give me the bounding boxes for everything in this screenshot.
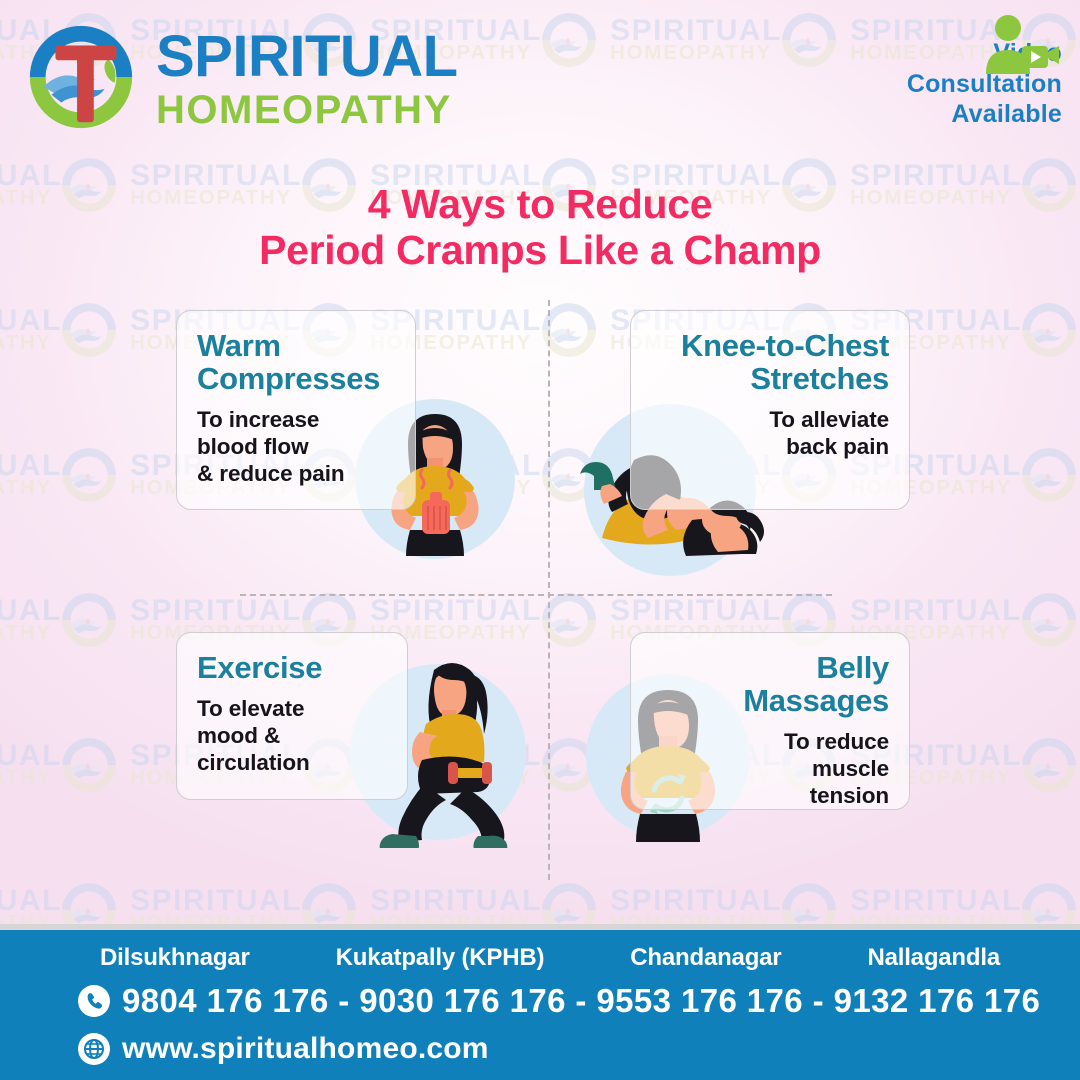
card-warm-compresses[interactable]: Warm Compresses To increase blood flow &… <box>176 310 416 510</box>
watermark-line1: SPIRITUAL <box>850 597 1022 625</box>
card-knee-to-chest-stretches[interactable]: Knee-to-Chest Stretches To alleviate bac… <box>630 310 910 510</box>
hands-leaf-circle-logo-icon <box>58 589 120 651</box>
phone-handset-icon <box>78 985 110 1017</box>
person-video-camera-icon <box>982 12 1060 76</box>
card-sub-line2: back pain <box>651 433 889 460</box>
card-title-line1: Knee-to-Chest <box>651 329 889 362</box>
watermark: SPIRITUALHOMEOPATHY <box>0 734 62 796</box>
watermark: SPIRITUALHOMEOPATHY <box>1018 444 1080 506</box>
watermark-line1: SPIRITUAL <box>0 887 62 915</box>
card-sub-line1: To increase <box>197 406 395 433</box>
footer: DilsukhnagarKukatpally (KPHB)Chandanagar… <box>0 930 1080 1080</box>
footer-phone-row[interactable]: 9804 176 176 - 9030 176 176 - 9553 176 1… <box>78 982 1040 1020</box>
watermark: SPIRITUALHOMEOPATHY <box>1018 589 1080 651</box>
card-sub-line1: To elevate <box>197 695 387 722</box>
card-subtitle: To alleviate back pain <box>651 406 889 460</box>
watermark: SPIRITUALHOMEOPATHY <box>1018 734 1080 796</box>
watermark-line1: SPIRITUAL <box>370 597 542 625</box>
card-sub-line3: & reduce pain <box>197 460 395 487</box>
card-title: Exercise <box>197 651 387 684</box>
watermark-line1: SPIRITUAL <box>0 307 62 335</box>
card-sub-line2: muscle <box>651 755 889 782</box>
watermark-line1: SPIRITUAL <box>0 742 62 770</box>
card-title-line1: Warm <box>197 329 395 362</box>
watermark-line2: HOMEOPATHY <box>0 769 62 788</box>
video-badge-line3: Available <box>832 99 1062 130</box>
card-belly-massages[interactable]: Belly Massages To reduce muscle tension <box>630 632 910 810</box>
footer-location: Dilsukhnagar <box>100 944 250 972</box>
card-subtitle: To elevate mood & circulation <box>197 695 387 776</box>
hands-leaf-circle-logo-icon <box>22 18 140 136</box>
card-sub-line2: mood & <box>197 722 387 749</box>
card-sub-line2: blood flow <box>197 433 395 460</box>
watermark: SPIRITUALHOMEOPATHY <box>0 299 62 361</box>
card-title-line2: Massages <box>651 684 889 717</box>
watermark-line1: SPIRITUAL <box>130 887 302 915</box>
card-title: Knee-to-Chest Stretches <box>651 329 889 395</box>
watermark: SPIRITUALHOMEOPATHY <box>1018 299 1080 361</box>
brand-name-line1: SPIRITUAL <box>156 28 458 86</box>
hands-leaf-circle-logo-icon <box>1018 589 1080 651</box>
footer-website: www.spiritualhomeo.com <box>122 1032 489 1066</box>
hands-leaf-circle-logo-icon <box>1018 734 1080 796</box>
footer-locations: DilsukhnagarKukatpally (KPHB)Chandanagar… <box>100 944 1000 972</box>
watermark-line1: SPIRITUAL <box>0 452 62 480</box>
watermark-line1: SPIRITUAL <box>130 597 302 625</box>
card-sub-line1: To alleviate <box>651 406 889 433</box>
footer-location: Nallagandla <box>867 944 1000 972</box>
card-title-line1: Exercise <box>197 651 387 684</box>
card-sub-line3: tension <box>651 782 889 809</box>
card-title: Belly Massages <box>651 651 889 717</box>
card-subtitle: To reduce muscle tension <box>651 728 889 809</box>
video-consultation-badge: Video Consultation Available <box>832 38 1062 130</box>
watermark: SPIRITUALHOMEOPATHY <box>0 444 62 506</box>
vertical-dashed-divider <box>548 300 550 880</box>
card-title-line2: Stretches <box>651 362 889 395</box>
card-exercise[interactable]: Exercise To elevate mood & circulation <box>176 632 408 800</box>
header: SPIRITUAL HOMEOPATHY Video Consultation … <box>0 0 1080 150</box>
infographic-poster: SPIRITUALHOMEOPATHYSPIRITUALHOMEOPATHYSP… <box>0 0 1080 1080</box>
watermark-line2: HOMEOPATHY <box>0 624 62 643</box>
card-subtitle: To increase blood flow & reduce pain <box>197 406 395 487</box>
hands-leaf-circle-logo-icon <box>1018 299 1080 361</box>
title-line-1: 4 Ways to Reduce <box>0 182 1080 228</box>
card-sub-line1: To reduce <box>651 728 889 755</box>
hands-leaf-circle-logo-icon <box>58 299 120 361</box>
watermark-line2: HOMEOPATHY <box>0 479 62 498</box>
card-title-line1: Belly <box>651 651 889 684</box>
watermark: SPIRITUALHOMEOPATHY <box>0 589 62 651</box>
card-title-line2: Compresses <box>197 362 395 395</box>
horizontal-dashed-divider <box>240 594 832 596</box>
brand-logo: SPIRITUAL HOMEOPATHY <box>22 18 458 136</box>
watermark-line2: HOMEOPATHY <box>0 334 62 353</box>
hands-leaf-circle-logo-icon <box>58 734 120 796</box>
footer-location: Kukatpally (KPHB) <box>336 944 545 972</box>
hands-leaf-circle-logo-icon <box>1018 444 1080 506</box>
watermark-line1: SPIRITUAL <box>370 887 542 915</box>
card-sub-line3: circulation <box>197 749 387 776</box>
hands-leaf-circle-logo-icon <box>58 444 120 506</box>
page-title: 4 Ways to Reduce Period Cramps Like a Ch… <box>0 182 1080 274</box>
globe-icon <box>78 1033 110 1065</box>
watermark-line1: SPIRITUAL <box>610 597 782 625</box>
footer-phone-numbers: 9804 176 176 - 9030 176 176 - 9553 176 1… <box>122 982 1040 1020</box>
title-line-2: Period Cramps Like a Champ <box>0 228 1080 274</box>
brand-name-line2: HOMEOPATHY <box>156 90 458 130</box>
card-title: Warm Compresses <box>197 329 395 395</box>
footer-website-row[interactable]: www.spiritualhomeo.com <box>78 1032 489 1066</box>
footer-location: Chandanagar <box>630 944 781 972</box>
watermark-layer: SPIRITUALHOMEOPATHYSPIRITUALHOMEOPATHYSP… <box>0 0 1080 1080</box>
watermark-line1: SPIRITUAL <box>0 597 62 625</box>
watermark-line1: SPIRITUAL <box>610 887 782 915</box>
watermark-line1: SPIRITUAL <box>850 887 1022 915</box>
